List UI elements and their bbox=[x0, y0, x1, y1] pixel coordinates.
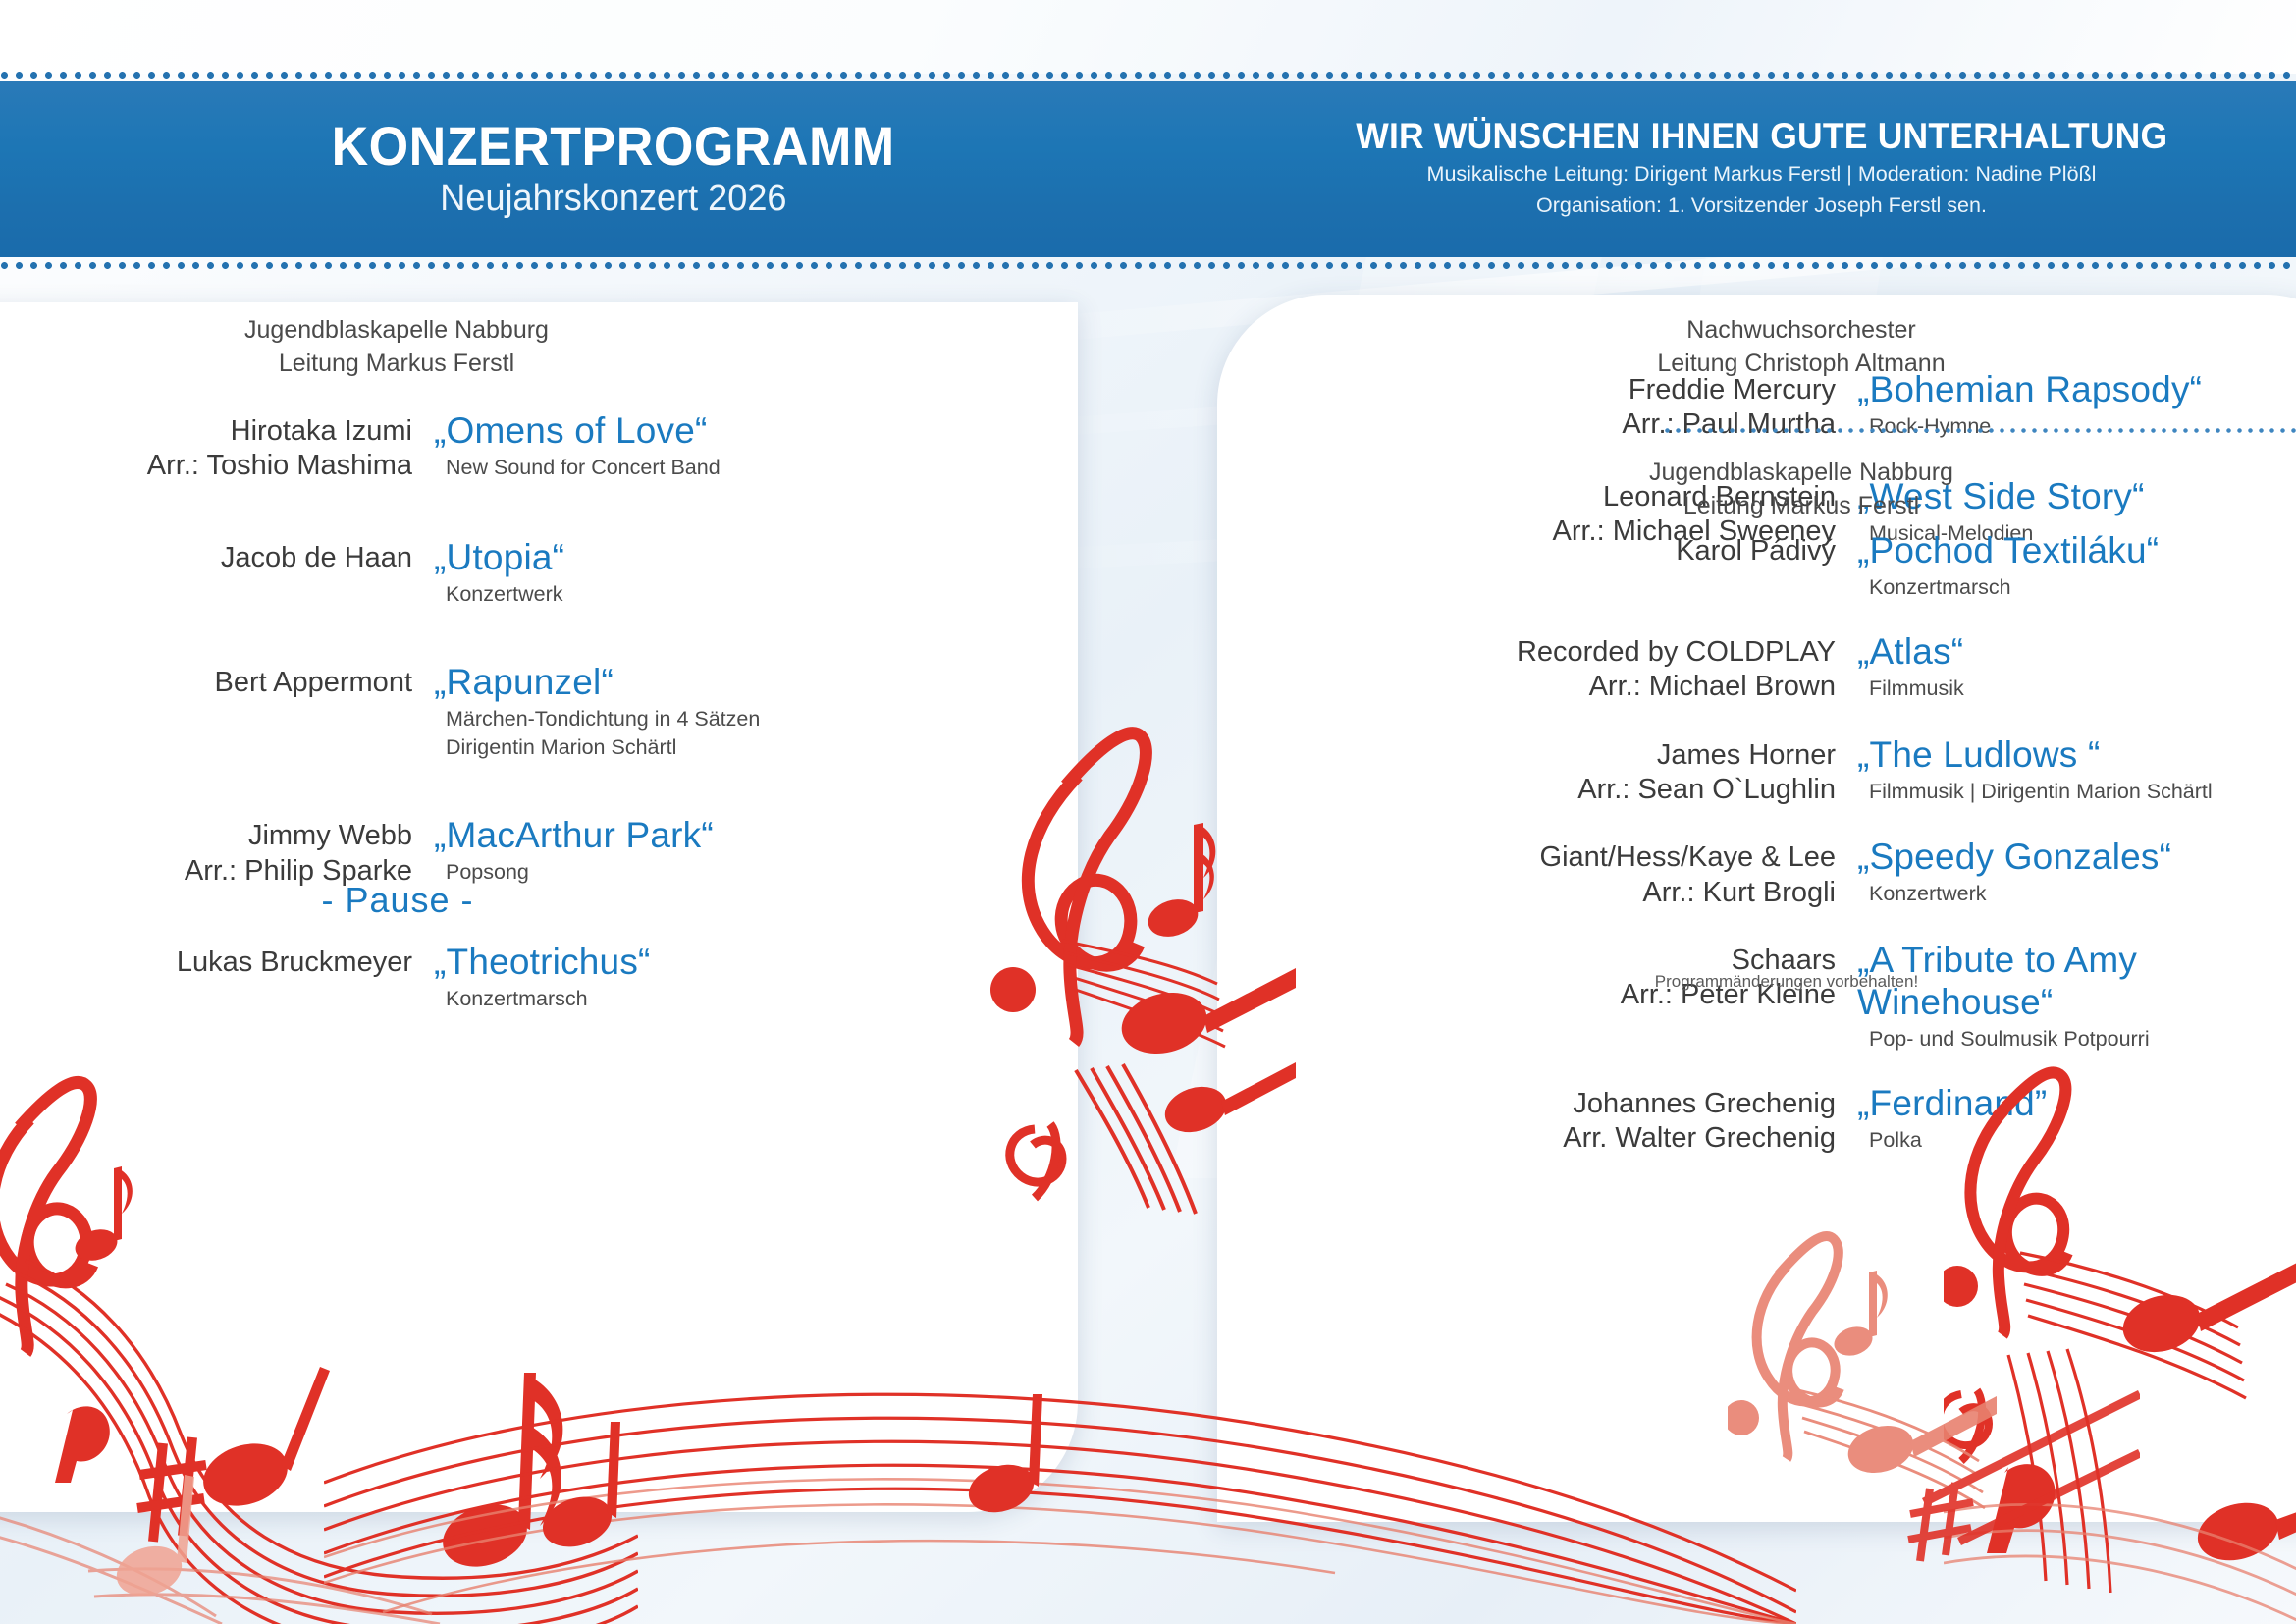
piece-title: „Rapunzel“ bbox=[434, 662, 999, 704]
program-card-right: Nachwuchsorchester Leitung Christoph Alt… bbox=[1217, 295, 2296, 1522]
page-title: KONZERTPROGRAMM bbox=[332, 118, 895, 175]
piece-title: „MacArthur Park“ bbox=[434, 815, 999, 857]
program-row: Johannes GrechenigArr. Walter Grechenig„… bbox=[1217, 1083, 2258, 1157]
piece-title: „Omens of Love“ bbox=[434, 410, 999, 453]
piece-genre: Pop- und Soulmusik Potpourri bbox=[1857, 1026, 2258, 1054]
arranger-name: Arr.: Michael Brown bbox=[1217, 670, 1836, 704]
piece-title: „Speedy Gonzales“ bbox=[1857, 837, 2258, 879]
piece-title: „The Ludlows “ bbox=[1857, 734, 2258, 777]
piece-genre: Märchen-Tondichtung in 4 Sätzen bbox=[434, 706, 999, 733]
left-column: Jugendblaskapelle Nabburg Leitung Markus… bbox=[0, 302, 999, 1512]
program-credits: Jimmy WebbArr.: Philip Sparke bbox=[0, 815, 412, 889]
arranger-name: Arr.: Sean O`Lughlin bbox=[1217, 773, 1836, 807]
program-credits: Jacob de Haan bbox=[0, 537, 412, 575]
piece-title: „Utopia“ bbox=[434, 537, 999, 579]
dotted-rule-top bbox=[0, 71, 2296, 80]
program-credits: Lukas Bruckmeyer bbox=[0, 942, 412, 980]
program-piece: „MacArthur Park“Popsong bbox=[412, 815, 999, 887]
arranger-name: Arr. Walter Grechenig bbox=[1217, 1121, 1836, 1156]
program-row: Bert Appermont„Rapunzel“Märchen-Tondicht… bbox=[0, 662, 999, 763]
piece-genre: Konzertwerk bbox=[1857, 881, 2258, 908]
divider-dots bbox=[1664, 427, 2296, 434]
left-program-list: Hirotaka IzumiArr.: Toshio Mashima„Omens… bbox=[0, 410, 999, 1066]
program-row: Karol Pádivý„Pochod Textiláku“Konzertmar… bbox=[1217, 530, 2258, 602]
piece-title: „Pochod Textiláku“ bbox=[1857, 530, 2258, 572]
section-divider bbox=[1664, 427, 2296, 434]
piece-genre: New Sound for Concert Band bbox=[434, 455, 999, 482]
program-row: SchaarsArr.: Peter Kleine„A Tribute to A… bbox=[1217, 940, 2258, 1054]
composer-name: Bert Appermont bbox=[0, 666, 412, 700]
page-subtitle: Neujahrskonzert 2026 bbox=[440, 179, 786, 220]
credits-line-2: Organisation: 1. Vorsitzender Joseph Fer… bbox=[1536, 191, 1987, 221]
right-ensemble-a-name: Nachwuchsorchester bbox=[1237, 314, 2296, 348]
arranger-name: Arr.: Paul Murtha bbox=[1217, 407, 1836, 442]
program-credits: Giant/Hess/Kaye & LeeArr.: Kurt Brogli bbox=[1217, 837, 1836, 910]
program-piece: „Atlas“Filmmusik bbox=[1836, 631, 2258, 703]
piece-genre: Filmmusik bbox=[1857, 676, 2258, 703]
program-credits: James HornerArr.: Sean O`Lughlin bbox=[1217, 734, 1836, 808]
arranger-name: Arr.: Toshio Mashima bbox=[0, 449, 412, 483]
program-piece: „A Tribute to Amy Winehouse“Pop- und Sou… bbox=[1836, 940, 2258, 1054]
right-column: Nachwuchsorchester Leitung Christoph Alt… bbox=[1217, 295, 2296, 1522]
piece-title: „Atlas“ bbox=[1857, 631, 2258, 674]
piece-genre: Konzertmarsch bbox=[434, 986, 999, 1013]
program-row: James HornerArr.: Sean O`Lughlin„The Lud… bbox=[1217, 734, 2258, 808]
composer-name: Johannes Grechenig bbox=[1217, 1087, 1836, 1121]
composer-name: Karol Pádivý bbox=[1217, 534, 1836, 568]
left-ensemble-name: Jugendblaskapelle Nabburg bbox=[0, 314, 793, 348]
program-row: Recorded by COLDPLAYArr.: Michael Brown„… bbox=[1217, 631, 2258, 705]
program-row: Hirotaka IzumiArr.: Toshio Mashima„Omens… bbox=[0, 410, 999, 484]
composer-name: Recorded by COLDPLAY bbox=[1217, 635, 1836, 670]
left-ensemble-heading: Jugendblaskapelle Nabburg Leitung Markus… bbox=[0, 314, 793, 380]
composer-name: Giant/Hess/Kaye & Lee bbox=[1217, 840, 1836, 875]
right-ensemble-b-name: Jugendblaskapelle Nabburg bbox=[1237, 457, 2296, 490]
program-row: Lukas Bruckmeyer„Theotrichus“Konzertmars… bbox=[0, 942, 999, 1013]
program-piece: „Utopia“Konzertwerk bbox=[412, 537, 999, 609]
welcome-title: WIR WÜNSCHEN IHNEN GUTE UNTERHALTUNG bbox=[1356, 117, 2167, 157]
right-ensemble-heading-b: Jugendblaskapelle Nabburg Leitung Markus… bbox=[1237, 457, 2296, 522]
piece-genre: Konzertwerk bbox=[434, 581, 999, 609]
composer-name: Jimmy Webb bbox=[0, 819, 412, 853]
program-row: Jacob de Haan„Utopia“Konzertwerk bbox=[0, 537, 999, 609]
header-band: KONZERTPROGRAMM Neujahrskonzert 2026 WIR… bbox=[0, 81, 2296, 257]
pause-label: - Pause - bbox=[0, 880, 795, 921]
program-credits: Johannes GrechenigArr. Walter Grechenig bbox=[1217, 1083, 1836, 1157]
program-row: Giant/Hess/Kaye & LeeArr.: Kurt Brogli„S… bbox=[1217, 837, 2258, 910]
header-left: KONZERTPROGRAMM Neujahrskonzert 2026 bbox=[0, 81, 1227, 257]
credits-line-1: Musikalische Leitung: Dirigent Markus Fe… bbox=[1427, 160, 2097, 189]
program-piece: „Omens of Love“New Sound for Concert Ban… bbox=[412, 410, 999, 482]
program-piece: „The Ludlows “Filmmusik | Dirigentin Mar… bbox=[1836, 734, 2258, 806]
program-credits: Recorded by COLDPLAYArr.: Michael Brown bbox=[1217, 631, 1836, 705]
program-row: Jimmy WebbArr.: Philip Sparke„MacArthur … bbox=[0, 815, 999, 889]
right-program-list-b: Karol Pádivý„Pochod Textiláku“Konzertmar… bbox=[1217, 530, 2258, 1186]
piece-title: „Bohemian Rapsody“ bbox=[1857, 369, 2258, 411]
header-right: WIR WÜNSCHEN IHNEN GUTE UNTERHALTUNG Mus… bbox=[1227, 81, 2296, 257]
program-credits: Bert Appermont bbox=[0, 662, 412, 700]
composer-name: James Horner bbox=[1217, 738, 1836, 773]
left-ensemble-conductor: Leitung Markus Ferstl bbox=[0, 348, 793, 381]
program-credits: Hirotaka IzumiArr.: Toshio Mashima bbox=[0, 410, 412, 484]
program-piece: „Pochod Textiláku“Konzertmarsch bbox=[1836, 530, 2258, 602]
top-white-strip bbox=[0, 0, 2296, 74]
composer-name: Jacob de Haan bbox=[0, 541, 412, 575]
piece-title: „Theotrichus“ bbox=[434, 942, 999, 984]
program-card-left: Jugendblaskapelle Nabburg Leitung Markus… bbox=[0, 302, 1078, 1512]
composer-name: Hirotaka Izumi bbox=[0, 414, 412, 449]
disclaimer-note: Programmänderungen vorbehalten! bbox=[1237, 972, 2296, 992]
piece-genre: Polka bbox=[1857, 1127, 2258, 1155]
composer-name: Freddie Mercury bbox=[1217, 373, 1836, 407]
pause-marker: - Pause - bbox=[0, 880, 795, 921]
right-ensemble-b-conductor: Leitung Markus Ferstl bbox=[1237, 490, 2296, 523]
arranger-name: Arr.: Kurt Brogli bbox=[1217, 876, 1836, 910]
composer-name: Lukas Bruckmeyer bbox=[0, 946, 412, 980]
piece-genre-secondary: Dirigentin Marion Schärtl bbox=[434, 734, 999, 762]
dotted-rule-bottom bbox=[0, 261, 2296, 270]
poster-background: KONZERTPROGRAMM Neujahrskonzert 2026 WIR… bbox=[0, 0, 2296, 1624]
program-piece: „Rapunzel“Märchen-Tondichtung in 4 Sätze… bbox=[412, 662, 999, 763]
program-footer: Programmänderungen vorbehalten! bbox=[1237, 972, 2296, 992]
program-credits: Karol Pádivý bbox=[1217, 530, 1836, 568]
piece-title: „Ferdinand” bbox=[1857, 1083, 2258, 1125]
piece-genre: Filmmusik | Dirigentin Marion Schärtl bbox=[1857, 779, 2258, 806]
program-piece: „Ferdinand”Polka bbox=[1836, 1083, 2258, 1155]
program-piece: „Speedy Gonzales“Konzertwerk bbox=[1836, 837, 2258, 908]
piece-genre: Konzertmarsch bbox=[1857, 574, 2258, 602]
program-piece: „Theotrichus“Konzertmarsch bbox=[412, 942, 999, 1013]
